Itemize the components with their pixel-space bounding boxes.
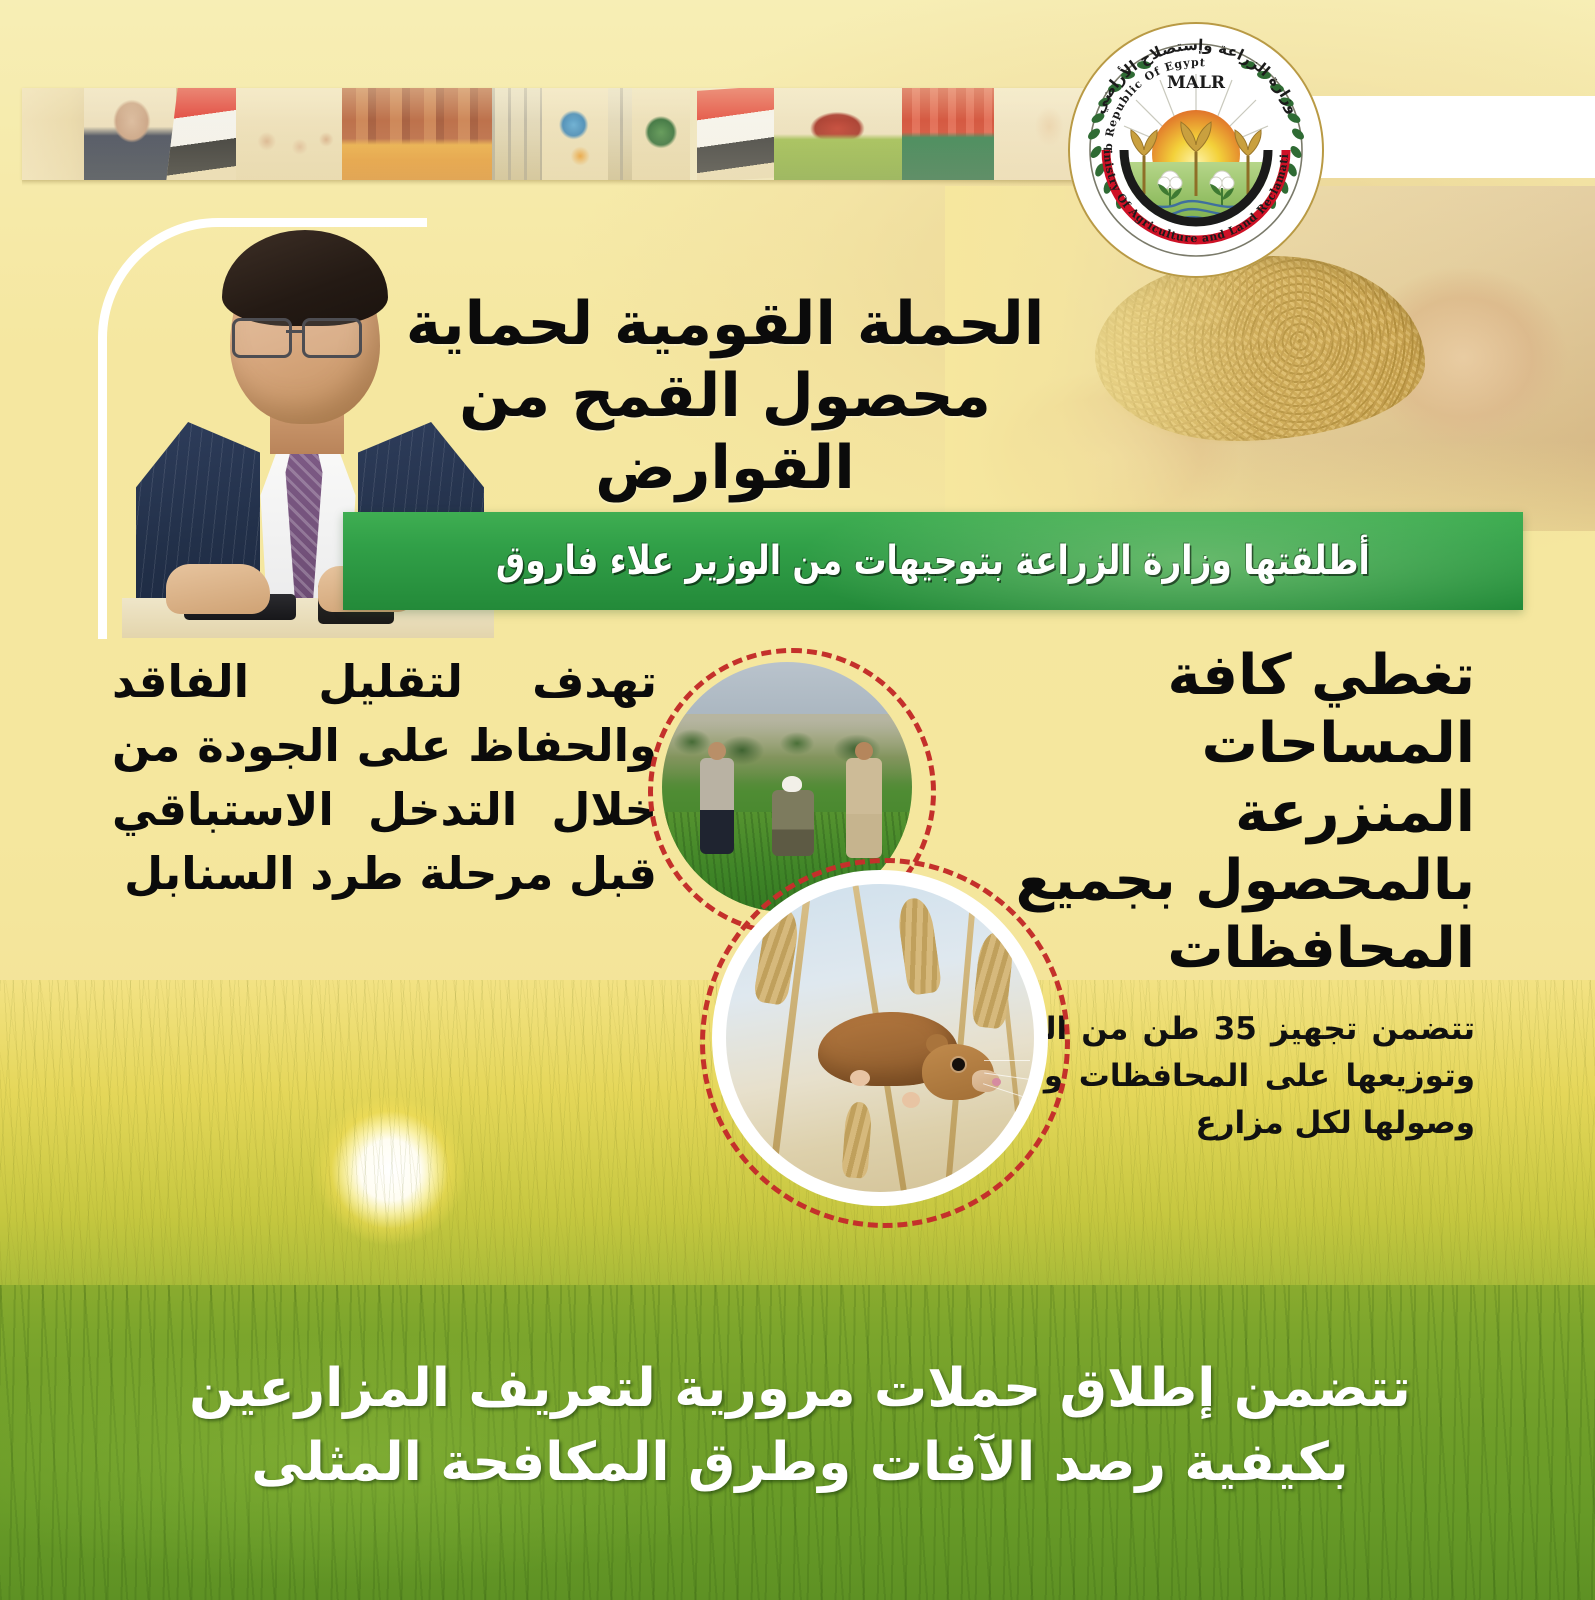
egyptian-flag-second-icon [697,88,781,180]
title-line-1: الحملة القومية لحماية [406,289,1045,359]
green-ribbon-banner: أطلقتها وزارة الزراعة بتوجيهات من الوزير… [343,512,1523,610]
footer-line-1: تتضمن إطلاق حملات مرورية لتعريف المزارعي… [189,1358,1411,1419]
poster-title: الحملة القومية لحماية محصول القمح من الق… [380,288,1070,504]
president-portrait-icon [84,88,176,180]
eyeglasses-right-lens-icon [302,318,362,358]
left-hand [166,564,270,614]
ministry-of-agriculture-seal: وزارة الزراعة وإستصلاح الأراضي Arab Repu… [1060,14,1332,286]
ribbon-text: أطلقتها وزارة الزراعة بتوجيهات من الوزير… [496,538,1370,584]
banner-shadow [22,180,1227,186]
globe-with-fruit-icon [542,88,608,180]
cargo-ship-icon [902,88,998,180]
mouse-photo-dashed-ring [700,858,1070,1228]
green-field-icon [632,88,690,180]
infographic-poster: وزارة الزراعة وإستصلاح الأراضي Arab Repu… [0,0,1595,1600]
left-column-body: تهدف لتقليل الفاقد والحفاظ على الجودة من… [112,650,657,906]
citizens-crowd-icon [236,88,346,180]
eyeglasses-left-lens-icon [232,318,292,358]
footer-line-2: بكيفية رصد الآفات وطرق المكافحة المثلى [70,1426,1530,1500]
logo-abbreviation: MALR [1167,73,1226,93]
egypt-agriculture-collage-banner [22,88,1227,180]
eyeglasses-bridge-icon [286,330,304,333]
red-tractor-icon [774,88,906,180]
title-line-2: محصول القمح من القوارض [380,360,1070,504]
footer-text: تتضمن إطلاق حملات مرورية لتعريف المزارعي… [70,1352,1530,1500]
hair [222,230,388,326]
